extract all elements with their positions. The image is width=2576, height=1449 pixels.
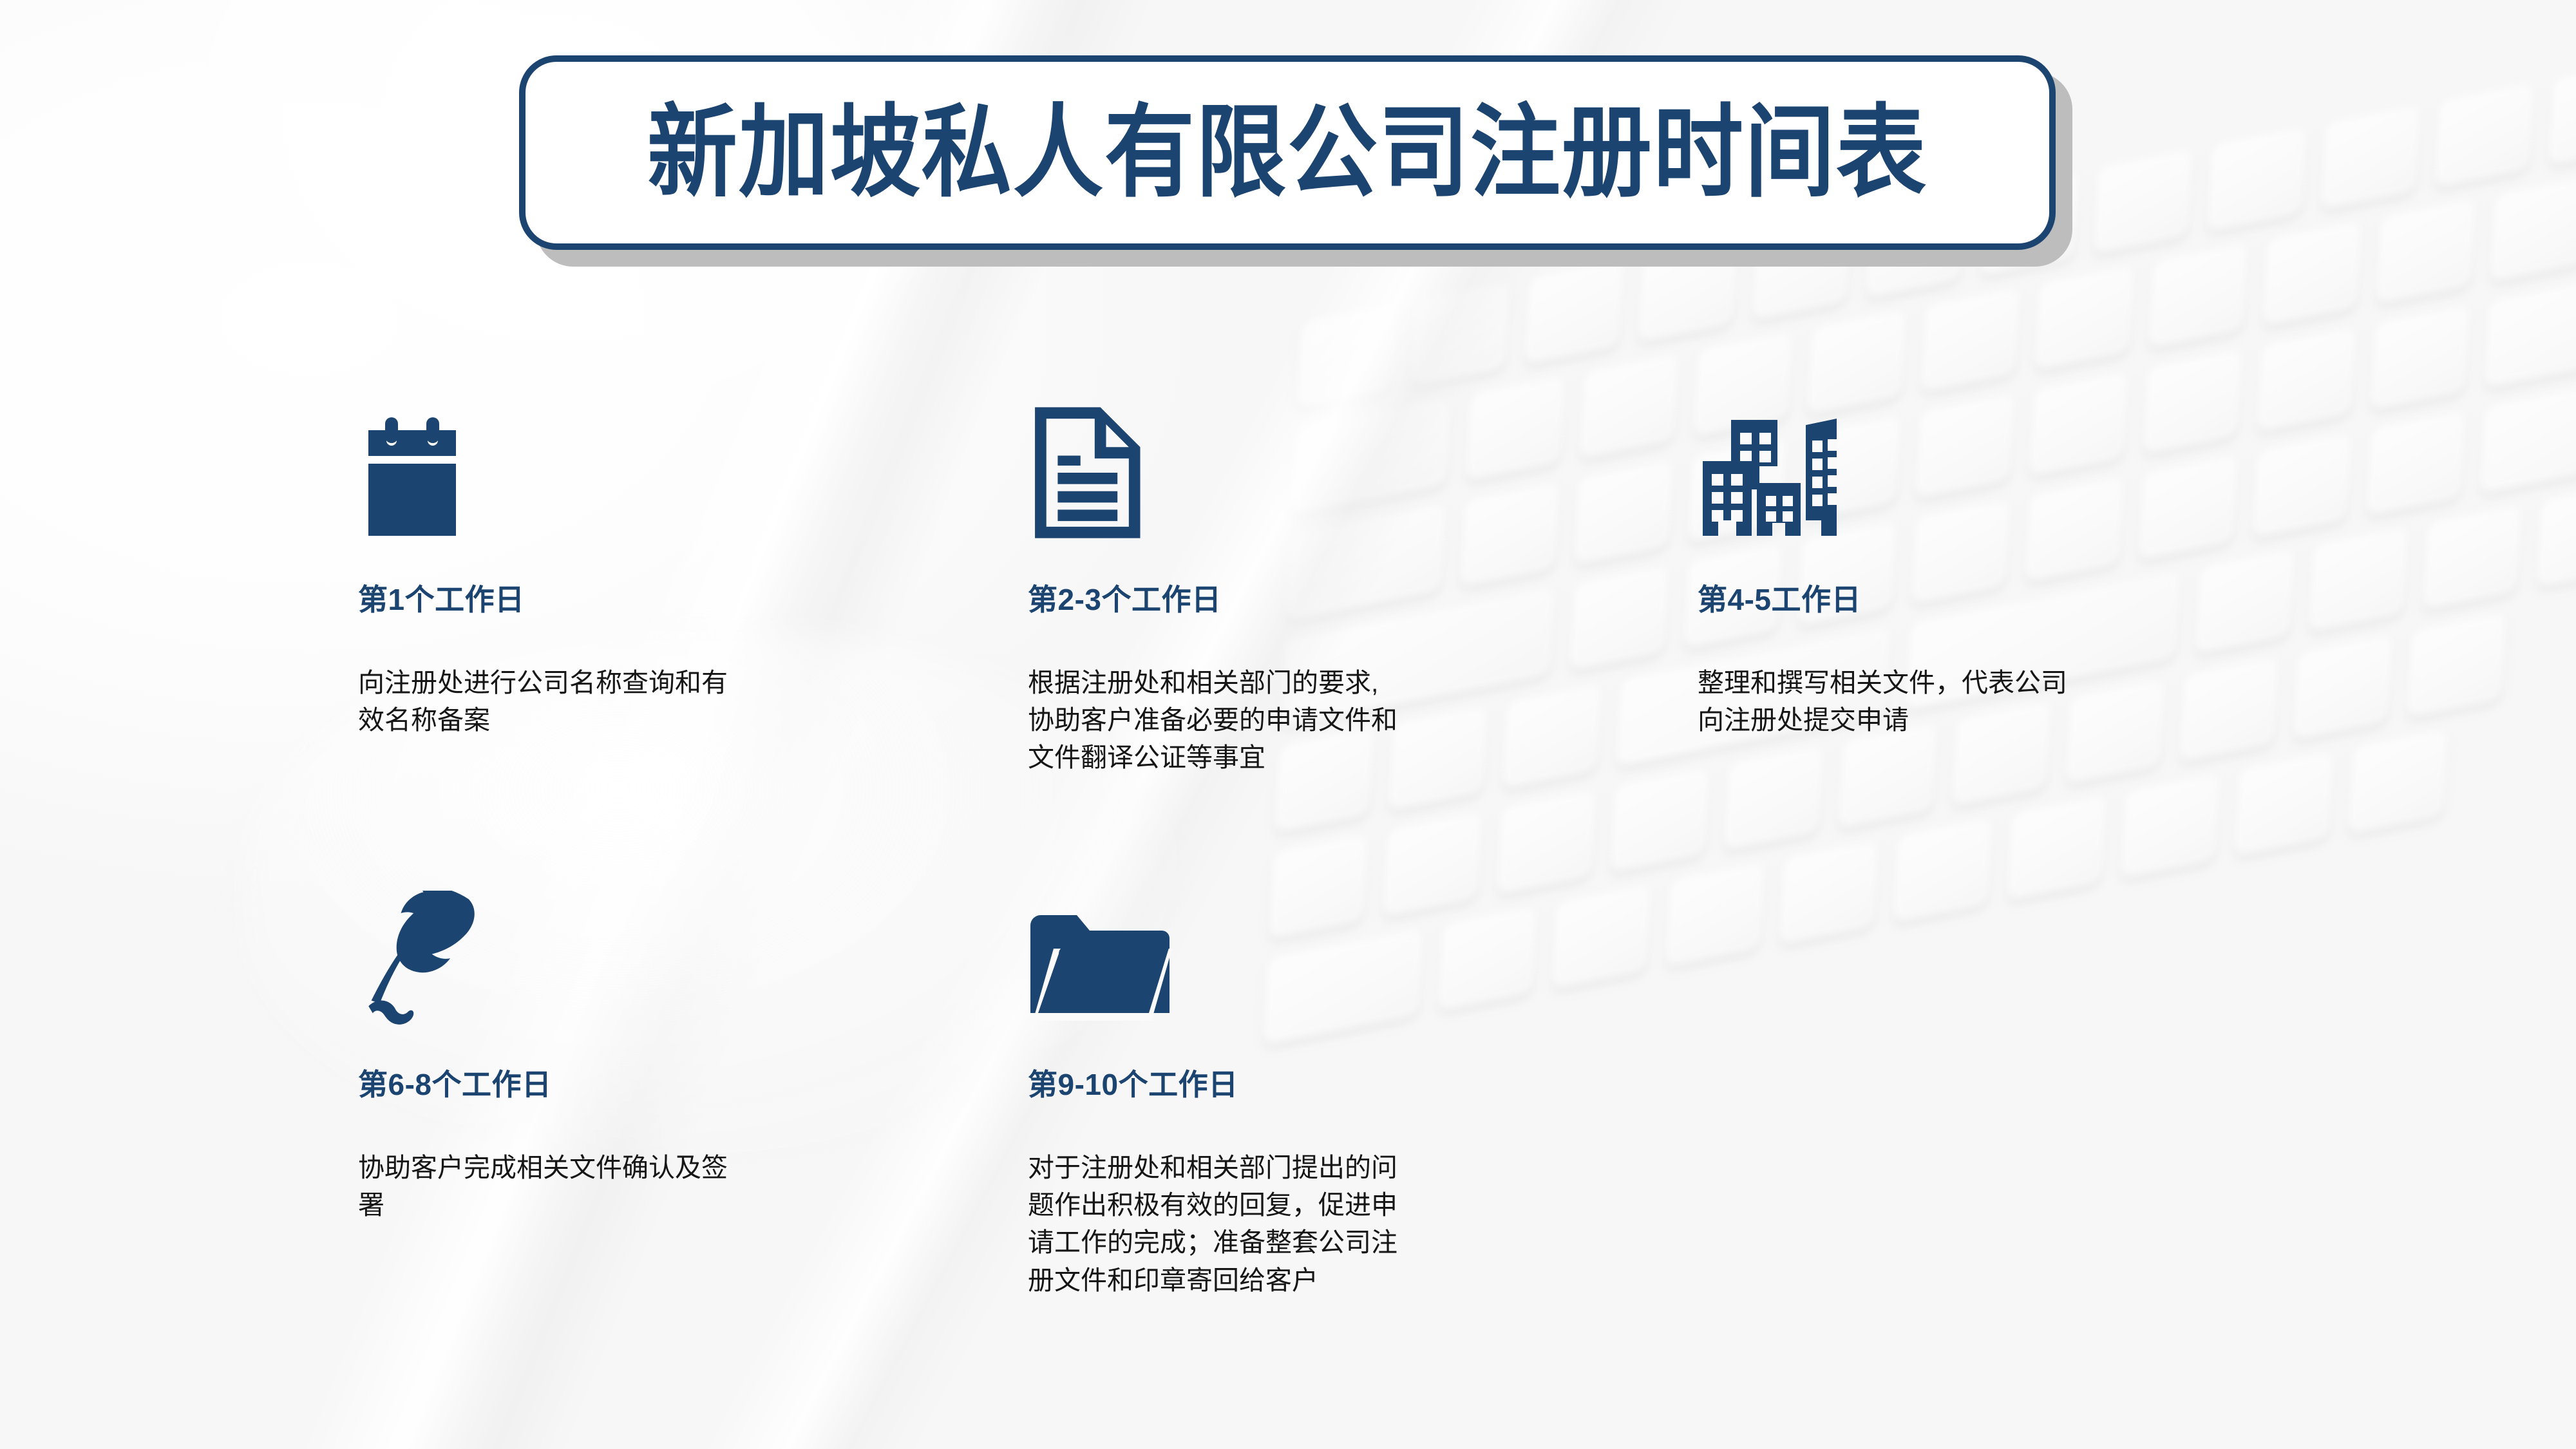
- steps-row-2: 第6-8个工作日 协助客户完成相关文件确认及签 署 第9-10个工作日 对于注册…: [358, 871, 2342, 1298]
- title-banner: 新加坡私人有限公司注册时间表: [519, 55, 2056, 250]
- step-item-4: 第6-8个工作日 协助客户完成相关文件确认及签 署: [358, 871, 1028, 1298]
- calendar-icon: [358, 386, 1028, 541]
- document-icon: [1028, 386, 1698, 541]
- step-heading-1: 第1个工作日: [358, 583, 1028, 616]
- buildings-icon: [1698, 386, 2367, 541]
- step-heading-3: 第4-5工作日: [1698, 583, 2367, 616]
- slide-canvas: 新加坡私人有限公司注册时间表: [0, 0, 2576, 1449]
- step-body-2: 根据注册处和相关部门的要求, 协助客户准备必要的申请文件和 文件翻译公证等事宜: [1028, 664, 1549, 777]
- step-body-1: 向注册处进行公司名称查询和有 效名称备案: [358, 664, 880, 739]
- open-folder-icon: [1028, 871, 1698, 1026]
- step-item-1: 第1个工作日 向注册处进行公司名称查询和有 效名称备案: [358, 386, 1028, 776]
- step-item-2: 第2-3个工作日 根据注册处和相关部门的要求, 协助客户准备必要的申请文件和 文…: [1028, 386, 1698, 776]
- step-heading-5: 第9-10个工作日: [1028, 1068, 1698, 1101]
- step-heading-4: 第6-8个工作日: [358, 1068, 1028, 1101]
- title-banner-box: 新加坡私人有限公司注册时间表: [519, 55, 2056, 250]
- step-body-4: 协助客户完成相关文件确认及签 署: [358, 1149, 880, 1224]
- step-item-5: 第9-10个工作日 对于注册处和相关部门提出的问 题作出积极有效的回复，促进申 …: [1028, 871, 1698, 1298]
- step-body-5: 对于注册处和相关部门提出的问 题作出积极有效的回复，促进申 请工作的完成；准备整…: [1028, 1149, 1549, 1299]
- step-body-3: 整理和撰写相关文件，代表公司 向注册处提交申请: [1698, 664, 2219, 739]
- step-item-3: 第4-5工作日 整理和撰写相关文件，代表公司 向注册处提交申请: [1698, 386, 2367, 776]
- steps-row-1: 第1个工作日 向注册处进行公司名称查询和有 效名称备案: [358, 386, 2342, 776]
- step-heading-2: 第2-3个工作日: [1028, 583, 1698, 616]
- feather-quill-icon: [358, 871, 1028, 1026]
- steps-grid: 第1个工作日 向注册处进行公司名称查询和有 效名称备案: [358, 386, 2342, 1299]
- page-title: 新加坡私人有限公司注册时间表: [647, 102, 1927, 204]
